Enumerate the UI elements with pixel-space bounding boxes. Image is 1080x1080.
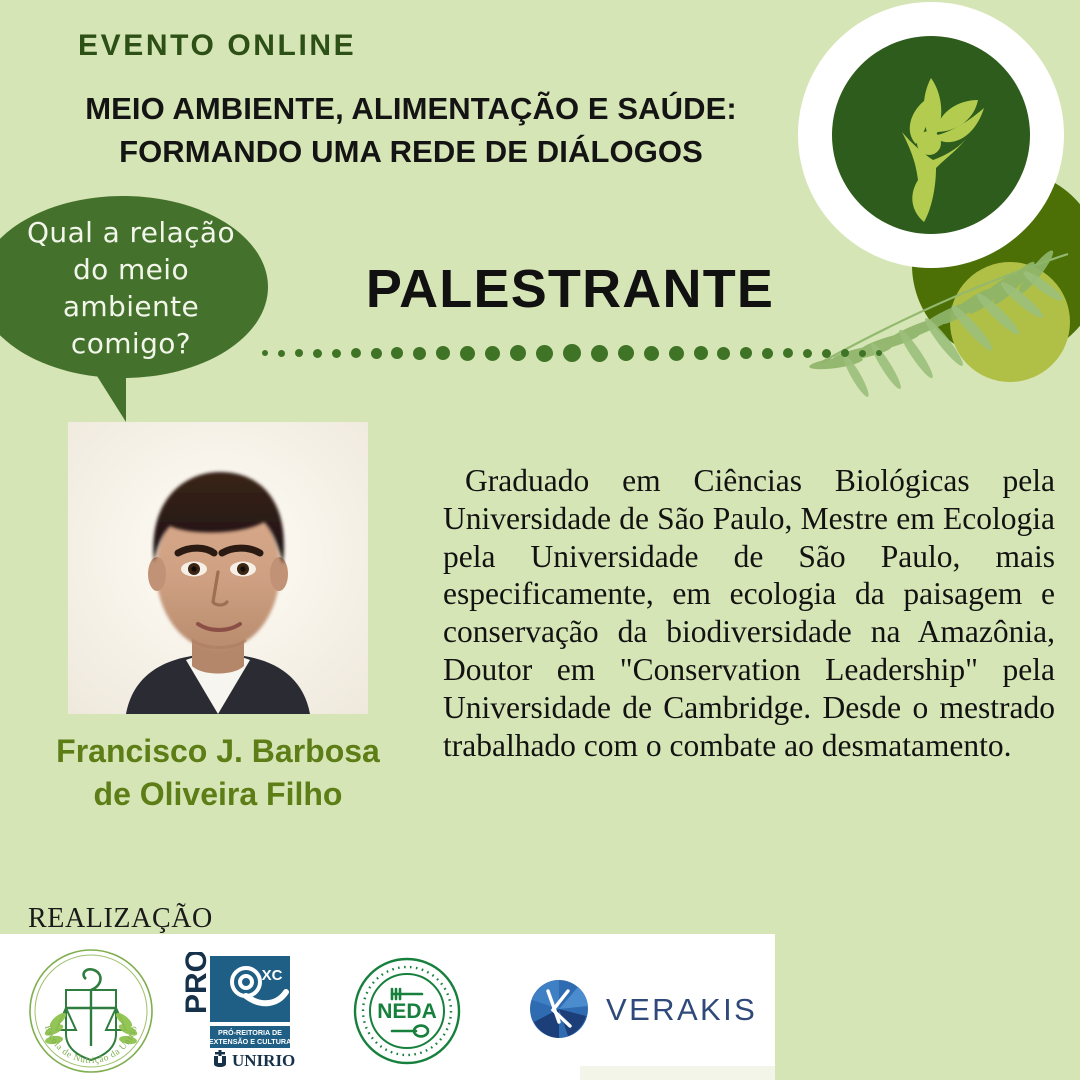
divider-dot	[694, 346, 708, 360]
leaf-person-icon	[832, 36, 1030, 234]
speaker-name: Francisco J. Barbosa de Oliveira Filho	[8, 730, 428, 816]
divider-dot	[295, 349, 303, 357]
speaker-name-line-2: de Oliveira Filho	[8, 773, 428, 816]
proexc-pro-mark: PRO	[184, 952, 213, 1014]
proexc-unirio-logo: XC PRO PRÓ-REITORIA DE EXTENSÃO E CULTUR…	[184, 952, 298, 1070]
divider-dot	[618, 345, 634, 361]
speaker-name-line-1: Francisco J. Barbosa	[8, 730, 428, 773]
divider-dot	[859, 350, 866, 357]
event-title-line-2: FORMANDO UMA REDE DE DIÁLOGOS	[26, 131, 796, 174]
speaker-photo	[68, 422, 368, 714]
divider-dot	[351, 348, 361, 358]
verakis-wordmark: VERAKIS	[606, 992, 757, 1027]
bubble-line-2: do meio	[0, 252, 262, 289]
divider-dot	[371, 348, 382, 359]
neda-logo: NEDA	[352, 956, 462, 1066]
verakis-logo: VERAKIS	[528, 978, 758, 1040]
unirio-wordmark: UNIRIO	[232, 1051, 295, 1070]
divider-dot	[669, 346, 684, 361]
organization-logo-badge	[798, 2, 1064, 268]
section-heading: PALESTRANTE	[280, 258, 860, 320]
page-title: MEIO AMBIENTE, ALIMENTAÇÃO E SAÚDE: FORM…	[26, 88, 796, 174]
bubble-line-1: Qual a relação	[0, 215, 262, 252]
divider-dot	[644, 346, 659, 361]
realization-label: REALIZAÇÃO	[28, 903, 213, 935]
divider-dot	[536, 345, 553, 362]
proexc-sub-line-2: EXTENSÃO E CULTURA	[209, 1037, 292, 1046]
divider-dot	[876, 350, 882, 356]
event-poster: EVENTO ONLINE MEIO AMBIENTE, ALIMENTAÇÃO…	[0, 0, 1080, 1080]
divider-dot	[413, 347, 426, 360]
footer-band-shade	[580, 1066, 775, 1080]
divider-dot	[591, 345, 608, 362]
divider-dot	[762, 348, 773, 359]
divider-dot	[740, 347, 752, 359]
bubble-line-3: ambiente	[0, 289, 262, 326]
proexc-sub-line-1: PRÓ-REITORIA DE	[218, 1028, 282, 1037]
divider-dot	[460, 346, 475, 361]
divider-dot	[563, 344, 581, 362]
divider-dot	[391, 347, 403, 359]
kicker-label: EVENTO ONLINE	[78, 29, 356, 63]
speaker-bio: Graduado em Ciências Biológicas pela Uni…	[443, 462, 1055, 764]
divider-dot	[436, 346, 450, 360]
divider-dot	[332, 349, 341, 358]
neda-wordmark: NEDA	[377, 1000, 437, 1023]
divider-dot	[841, 349, 849, 357]
divider-dot	[485, 346, 500, 361]
proexc-xc-mark: XC	[262, 967, 283, 984]
speech-bubble-text: Qual a relação do meio ambiente comigo?	[0, 215, 262, 363]
escola-nutricao-unirio-logo: Escola de Nutrição da Unirio	[26, 946, 156, 1076]
divider-dot	[262, 350, 268, 356]
divider-dot	[783, 348, 793, 358]
event-title-line-1: MEIO AMBIENTE, ALIMENTAÇÃO E SAÚDE:	[26, 88, 796, 131]
divider-dot	[313, 349, 322, 358]
divider-dot	[822, 349, 831, 358]
divider-dot	[803, 349, 812, 358]
divider-dot	[717, 347, 730, 360]
dotted-divider	[262, 338, 882, 368]
divider-dot	[278, 350, 285, 357]
bubble-line-4: comigo?	[0, 326, 262, 363]
divider-dot	[510, 345, 526, 361]
decorative-circle-light-olive	[950, 262, 1070, 382]
